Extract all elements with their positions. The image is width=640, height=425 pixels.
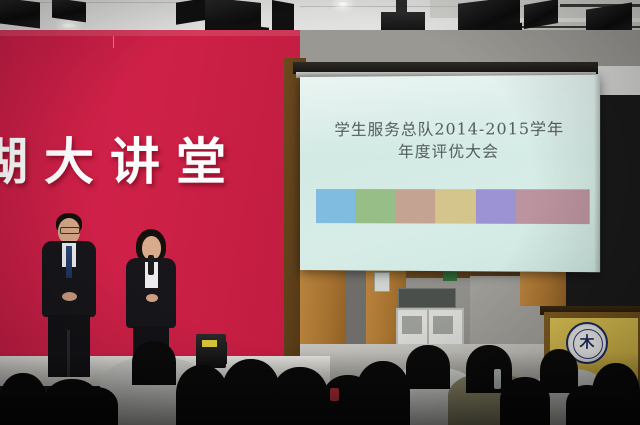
- male-host-tie: [66, 246, 72, 278]
- auditorium-photo: 湖大讲堂 学生服务总队2014-2015学年 年度评优大会: [0, 0, 640, 425]
- block-salmon: [395, 189, 435, 223]
- exit-sign: [443, 272, 457, 281]
- backdrop-wire: [113, 36, 114, 48]
- slide-title-line2: 年度评优大会: [300, 141, 600, 164]
- female-host-hand: [146, 294, 158, 302]
- monitor-cable: [226, 342, 227, 364]
- audience-head-15: [74, 387, 118, 425]
- male-host-glasses: [60, 227, 80, 234]
- phone-screen: [330, 388, 339, 401]
- audience-head-1: [132, 341, 176, 385]
- male-host-arm-left: [42, 246, 56, 304]
- screen-right-shadow: [594, 75, 600, 273]
- ceiling-projector: [381, 12, 425, 32]
- block-blue: [316, 189, 356, 223]
- slide-title-line1: 学生服务总队2014-2015学年: [300, 118, 600, 142]
- backdrop-top-edge: [0, 30, 300, 36]
- audience-head-5: [0, 373, 46, 425]
- downlight-6: [336, 1, 350, 7]
- audience-head-16: [240, 389, 284, 425]
- door-pane-right: [433, 316, 453, 334]
- male-host-hands: [62, 292, 77, 301]
- monitor-label: [202, 340, 217, 347]
- audience-head-7: [176, 365, 228, 425]
- audience-head-14: [566, 385, 608, 425]
- male-host-leg-gap: [67, 330, 70, 377]
- microphone[interactable]: [148, 255, 154, 275]
- block-green: [356, 189, 396, 223]
- female-host-arm-right: [163, 264, 176, 318]
- emblem-glyph: 木: [579, 333, 595, 351]
- audience-head-11: [356, 361, 410, 425]
- slide-color-blocks: [316, 189, 590, 224]
- block-purple: [476, 189, 517, 224]
- stage-light-1: [0, 0, 40, 28]
- female-host-arm-left: [126, 264, 139, 318]
- audience-head-12: [500, 377, 550, 425]
- slide-title: 学生服务总队2014-2015学年 年度评优大会: [300, 118, 600, 164]
- door-pane-left: [402, 316, 422, 334]
- door-sign: [398, 288, 456, 308]
- water-bottle: [494, 369, 501, 389]
- venue-banner-text: 湖大讲堂: [0, 122, 268, 194]
- wall-wood-panel-right: [520, 272, 566, 306]
- audience-head-2: [406, 345, 450, 389]
- male-host-arm-right: [82, 246, 96, 304]
- block-mauve: [516, 189, 590, 224]
- projection-screen: 学生服务总队2014-2015学年 年度评优大会: [300, 75, 600, 273]
- wall-sign-small: [374, 272, 390, 292]
- stage-light-4-wing: [272, 0, 294, 34]
- wall-upper-gray: [300, 30, 640, 66]
- block-gold: [435, 189, 475, 224]
- downlight-1: [60, 22, 77, 29]
